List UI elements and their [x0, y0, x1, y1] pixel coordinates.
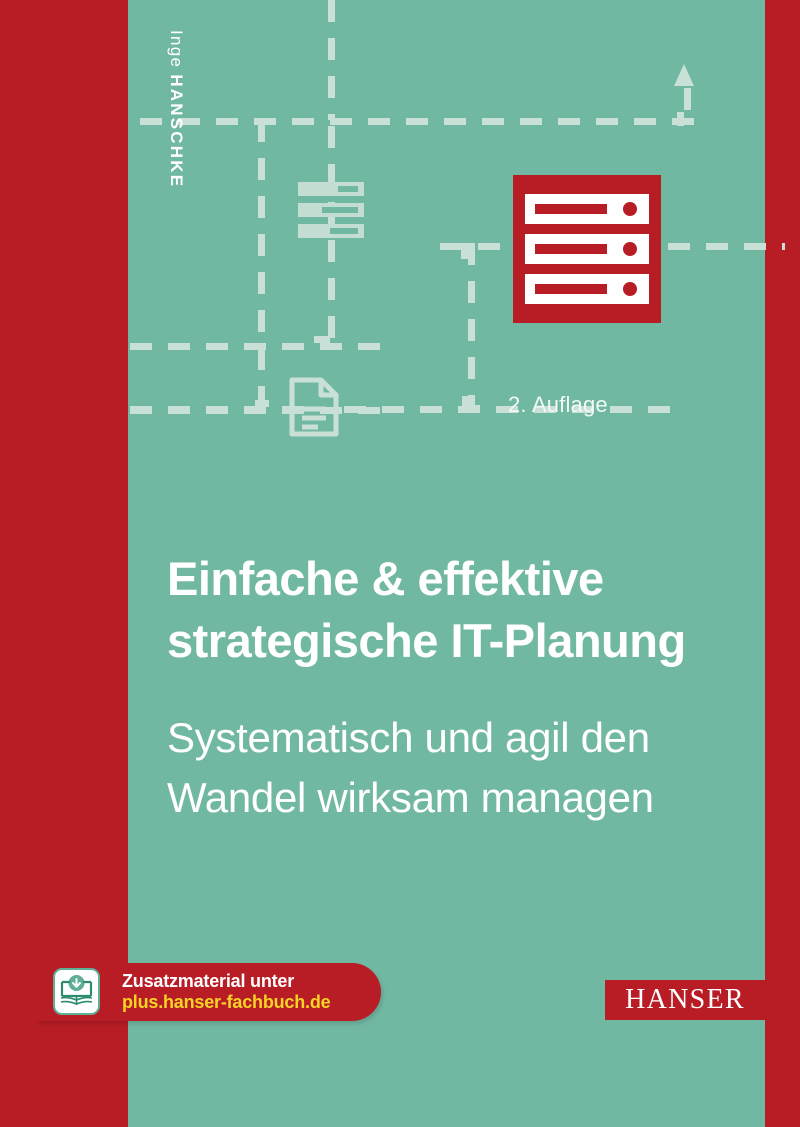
server-rack-ghost-icon	[298, 182, 364, 238]
book-cover: Inge HANSCHKE 2. Auflage Einfache & effe…	[0, 0, 800, 1127]
badge-line-2: plus.hanser-fachbuch.de	[122, 992, 330, 1013]
grid-corner	[462, 405, 480, 412]
grid-line-vertical	[468, 243, 475, 411]
zusatzmaterial-badge[interactable]: Zusatzmaterial unter plus.hanser-fachbuc…	[36, 963, 381, 1021]
grid-corner	[461, 243, 475, 250]
page-subtitle: Systematisch und agil den Wandel wirksam…	[167, 708, 747, 827]
grid-line-vertical	[328, 0, 335, 120]
publisher-logo: HANSER	[605, 941, 800, 1059]
author-first-name: Inge	[167, 30, 186, 74]
grid-corner	[258, 118, 276, 125]
badge-text-group: Zusatzmaterial unter plus.hanser-fachbuc…	[122, 971, 330, 1013]
grid-line-vertical	[258, 120, 265, 412]
title-line-1: Einfache & effektive	[167, 548, 747, 610]
grid-line-vertical	[684, 88, 691, 124]
left-red-stripe	[0, 0, 128, 1127]
logo-check-square	[765, 1020, 800, 1059]
triangle-up-icon	[674, 64, 694, 86]
grid-corner	[461, 243, 468, 259]
grid-corner	[323, 336, 330, 350]
grid-line-horizontal	[130, 406, 310, 413]
document-page-icon	[288, 377, 340, 437]
subtitle-line-2: Wandel wirksam managen	[167, 768, 747, 828]
grid-line-horizontal	[130, 343, 392, 350]
author-name: Inge HANSCHKE	[166, 30, 186, 290]
grid-corner	[462, 396, 469, 412]
grid-corner	[255, 400, 269, 407]
grid-corner	[314, 336, 330, 343]
edition-label: 2. Auflage	[508, 392, 608, 418]
title-line-2: strategische IT-Planung	[167, 610, 747, 672]
server-rack-icon	[513, 175, 661, 323]
grid-line-horizontal	[130, 407, 388, 414]
publisher-name-bar: HANSER	[605, 980, 765, 1020]
badge-line-1: Zusatzmaterial unter	[122, 971, 330, 992]
grid-line-horizontal	[140, 118, 700, 125]
grid-corner	[677, 112, 684, 126]
logo-check-square	[765, 941, 800, 980]
publisher-name: HANSER	[625, 984, 745, 1016]
book-download-icon	[53, 968, 100, 1015]
page-title: Einfache & effektive strategische IT-Pla…	[167, 548, 747, 672]
subtitle-line-1: Systematisch und agil den	[167, 708, 747, 768]
author-surname: HANSCHKE	[167, 74, 186, 188]
